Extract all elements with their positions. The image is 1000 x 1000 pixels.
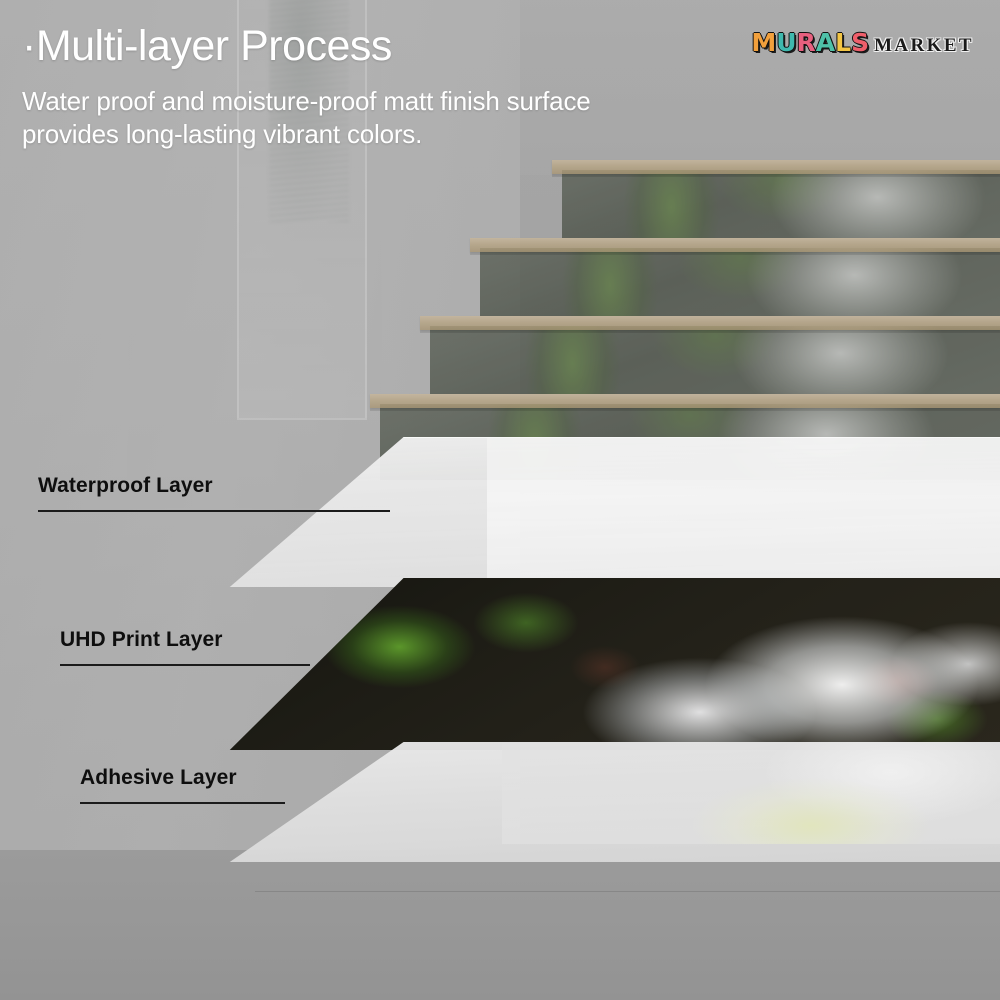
layer-label-waterproof-text: Waterproof Layer [38,474,390,498]
staircase [460,160,1000,480]
floor-seam [255,891,1000,892]
stair-edge-shadow [420,330,1000,333]
stair-tread [420,316,1000,330]
stair-riser [430,326,1000,394]
page-title: ·Multi-layer Process [22,24,782,69]
page-subtitle-line-1: Water proof and moisture-proof matt fini… [22,85,782,118]
page-subtitle-line-2: provides long-lasting vibrant colors. [22,118,782,151]
heading-block: ·Multi-layer Process Water proof and moi… [22,24,782,152]
layer-label-uhd-print-rule [60,664,310,666]
stair-tread [470,238,1000,252]
layer-label-adhesive-rule [80,802,285,804]
mural-layer-diagram: Waterproof Layer UHD Print Layer Adhesiv… [0,0,1000,1000]
page-subtitle: Water proof and moisture-proof matt fini… [22,85,782,152]
brand-logo-market: MARKET [874,35,974,57]
brand-logo-letter-s-5: S [851,30,869,55]
stair-riser [480,248,1000,316]
layer-label-waterproof-rule [38,510,390,512]
brand-logo-letter-l-4: L [835,30,851,55]
layer-label-adhesive: Adhesive Layer [80,766,285,804]
brand-logo-letter-a-3: A [816,30,835,55]
brand-logo-murals: MURALS [751,30,869,55]
layer-label-uhd-print: UHD Print Layer [60,628,310,666]
layer-slab-waterproof-sheen [487,438,1000,587]
layer-label-adhesive-text: Adhesive Layer [80,766,285,790]
brand-logo-letter-m-0: M [751,30,776,55]
stair-tread [552,160,1000,174]
stair-riser [562,170,1000,238]
stair-edge-shadow [370,408,1000,411]
stair-tread [370,394,1000,408]
layer-slab-adhesive-sheen [502,742,1000,844]
brand-logo-letter-r-2: R [797,30,816,55]
stair-edge-shadow [470,252,1000,255]
floor [0,850,1000,1000]
layer-label-uhd-print-text: UHD Print Layer [60,628,310,652]
stair-edge-shadow [552,174,1000,177]
brand-logo: MURALS MARKET [751,30,974,57]
brand-logo-letter-u-1: U [776,30,796,55]
layer-label-waterproof: Waterproof Layer [38,474,390,512]
